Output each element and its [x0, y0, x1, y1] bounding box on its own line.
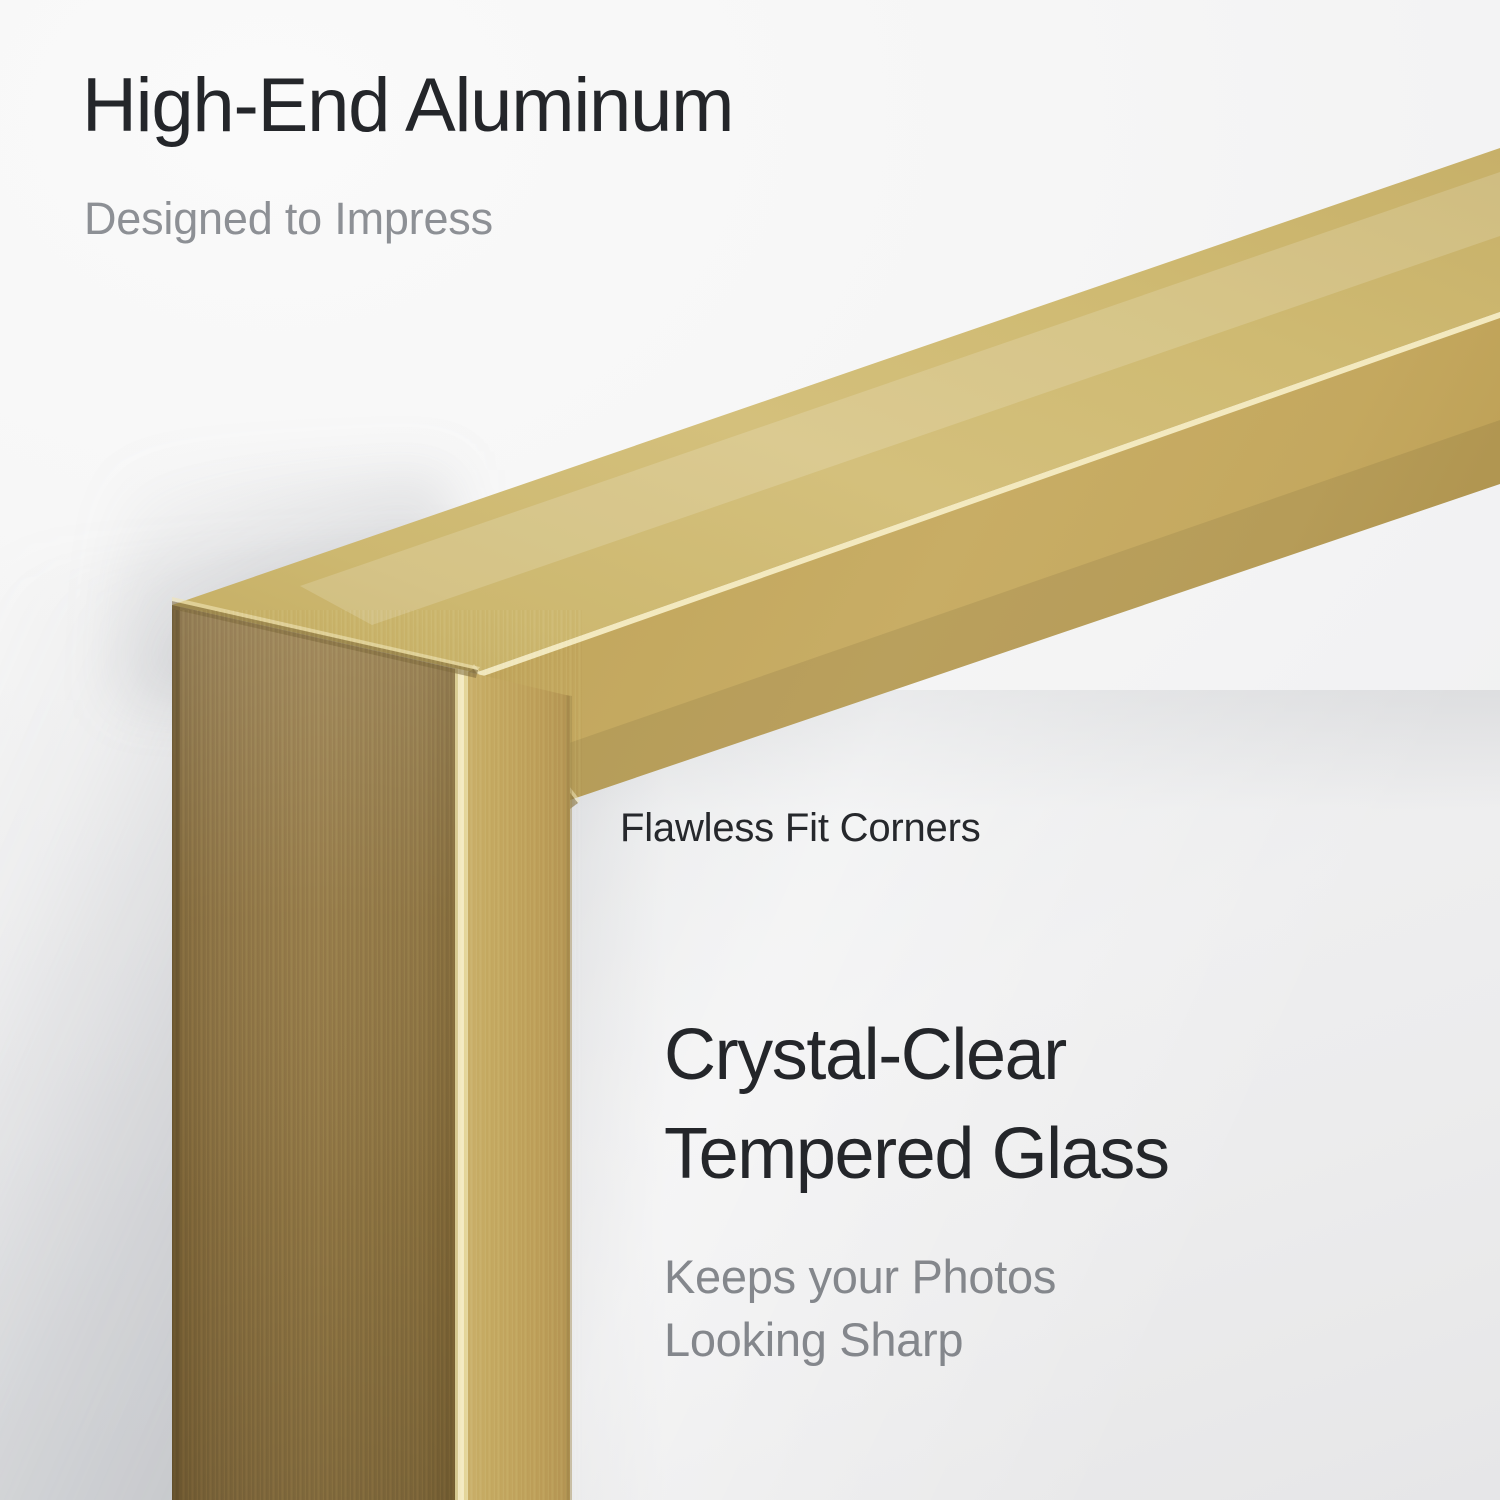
glass-feature-title-line2: Tempered Glass: [664, 1105, 1169, 1204]
glass-feature-subtitle-line2: Looking Sharp: [664, 1309, 1056, 1372]
glass-feature-subtitle-line1: Keeps your Photos: [664, 1246, 1056, 1309]
callout-flawless-fit-corners: Flawless Fit Corners: [620, 808, 981, 848]
left-stile-inner-face: [460, 670, 570, 1500]
glass-feature-title: Crystal-Clear Tempered Glass: [664, 1006, 1169, 1205]
left-stile-outer-contour: [172, 605, 180, 1500]
glass-feature-subtitle: Keeps your Photos Looking Sharp: [664, 1246, 1056, 1371]
left-stile-inner-contour: [566, 695, 572, 1500]
page-title: High-End Aluminum: [82, 68, 733, 144]
product-feature-image: High-End Aluminum Designed to Impress Fl…: [0, 0, 1500, 1500]
left-stile-edge-core: [458, 669, 464, 1500]
page-subtitle: Designed to Impress: [84, 196, 493, 241]
glass-feature-title-line1: Crystal-Clear: [664, 1006, 1169, 1105]
left-stile-outer-sheen: [172, 605, 460, 1500]
